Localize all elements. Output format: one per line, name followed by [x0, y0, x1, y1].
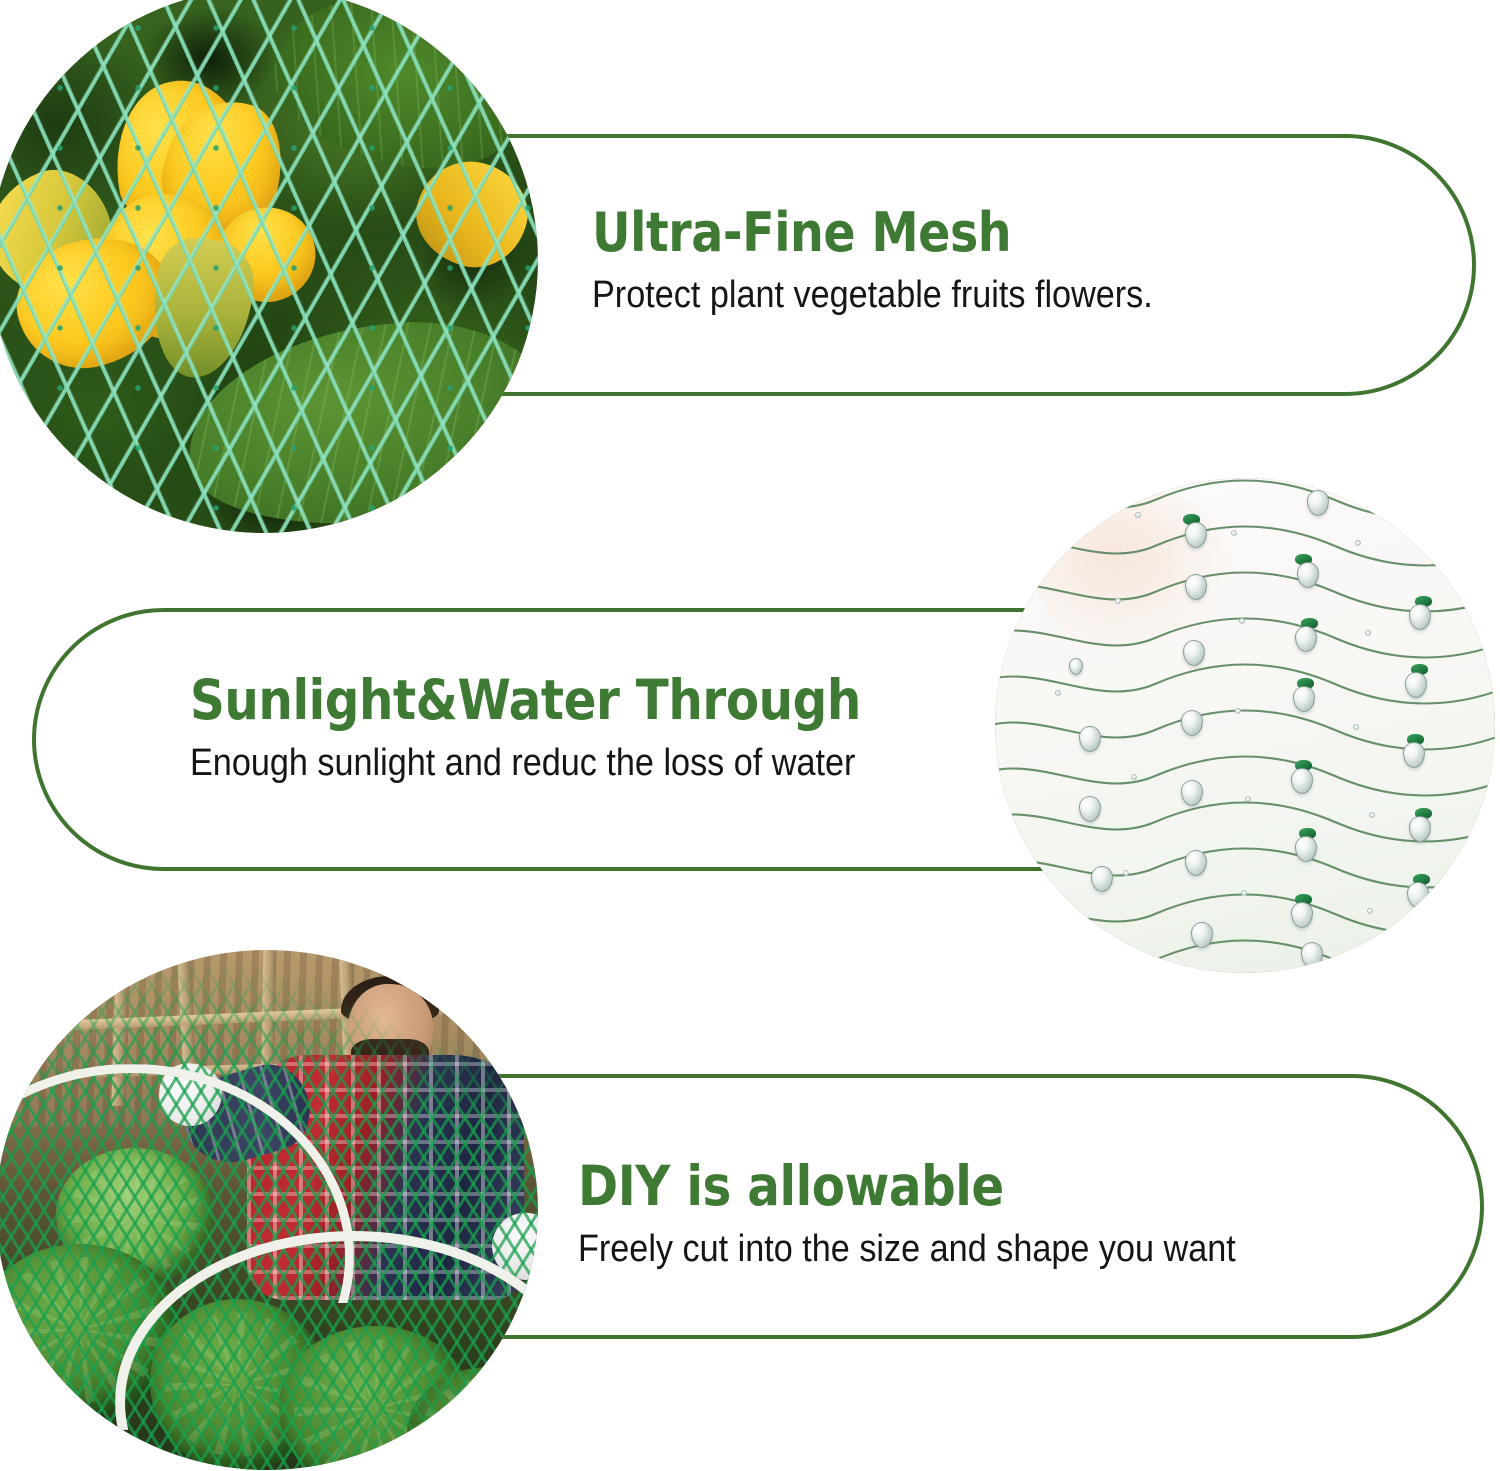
net-bead: [1131, 774, 1137, 780]
net-bead: [1369, 812, 1375, 818]
feature-image-ultra-fine-mesh: [0, 0, 538, 533]
feature-title-sunlight-water-through: Sunlight&Water Through: [190, 672, 861, 730]
water-droplet: [1409, 816, 1431, 842]
water-droplet: [1185, 522, 1207, 548]
feature-title-ultra-fine-mesh: Ultra-Fine Mesh: [592, 205, 1140, 262]
net-bead: [1115, 598, 1121, 604]
photo-netting-water-droplets: [995, 478, 1495, 973]
feature-image-sunlight-water-through: [995, 478, 1495, 973]
photo-squash-flower-netting: [0, 0, 538, 533]
net-bead: [1355, 540, 1361, 546]
feature-text-ultra-fine-mesh: Ultra-Fine Mesh Protect plant vegetable …: [592, 205, 1215, 316]
water-droplet: [1409, 604, 1431, 630]
net-bead: [1245, 796, 1251, 802]
feature-text-sunlight-water-through: Sunlight&Water Through Enough sunlight a…: [190, 672, 952, 784]
squash-blossom: [17, 81, 340, 397]
water-droplet: [1295, 836, 1317, 862]
water-droplet: [1069, 658, 1083, 675]
feature-text-diy-is-allowable: DIY is allowable Freely cut into the siz…: [578, 1158, 1309, 1270]
water-droplet: [1185, 574, 1207, 600]
feature-image-diy-is-allowable: [0, 950, 538, 1470]
water-droplet: [1295, 626, 1317, 652]
water-droplet: [1407, 882, 1429, 908]
water-droplet: [1185, 850, 1207, 876]
water-droplet: [1183, 640, 1205, 666]
net-bead: [1353, 724, 1359, 730]
water-droplet: [1301, 942, 1323, 968]
net-bead: [1367, 908, 1373, 914]
water-droplet: [1091, 866, 1113, 892]
net-bead: [1055, 690, 1061, 696]
net-bead: [1231, 530, 1237, 536]
water-droplet: [1297, 562, 1319, 588]
net-bead: [1235, 708, 1241, 714]
water-droplet: [1307, 490, 1329, 516]
water-droplet: [1403, 742, 1425, 768]
water-droplet: [1291, 768, 1313, 794]
water-droplet: [1079, 726, 1101, 752]
feature-description-ultra-fine-mesh: Protect plant vegetable fruits flowers.: [592, 274, 1153, 317]
water-droplet: [1181, 780, 1203, 806]
infographic-canvas: Ultra-Fine Mesh Protect plant vegetable …: [0, 0, 1500, 1471]
water-droplet: [1191, 922, 1213, 948]
feature-description-sunlight-water-through: Enough sunlight and reduc the loss of wa…: [190, 742, 876, 785]
photo-gardener-netting-cabbages: [0, 950, 538, 1470]
water-droplet: [1181, 710, 1203, 736]
water-droplet: [1079, 796, 1101, 822]
net-bead: [1365, 630, 1371, 636]
net-bead: [1123, 870, 1129, 876]
net-bead: [1135, 512, 1141, 518]
water-droplets-group: [995, 478, 1495, 973]
net-bead: [1239, 618, 1245, 624]
feature-title-diy-is-allowable: DIY is allowable: [578, 1158, 1221, 1216]
water-droplet: [1405, 672, 1427, 698]
net-bead: [1241, 890, 1247, 896]
water-droplet: [1291, 902, 1313, 928]
feature-description-diy-is-allowable: Freely cut into the size and shape you w…: [578, 1228, 1236, 1271]
water-droplet: [1293, 686, 1315, 712]
